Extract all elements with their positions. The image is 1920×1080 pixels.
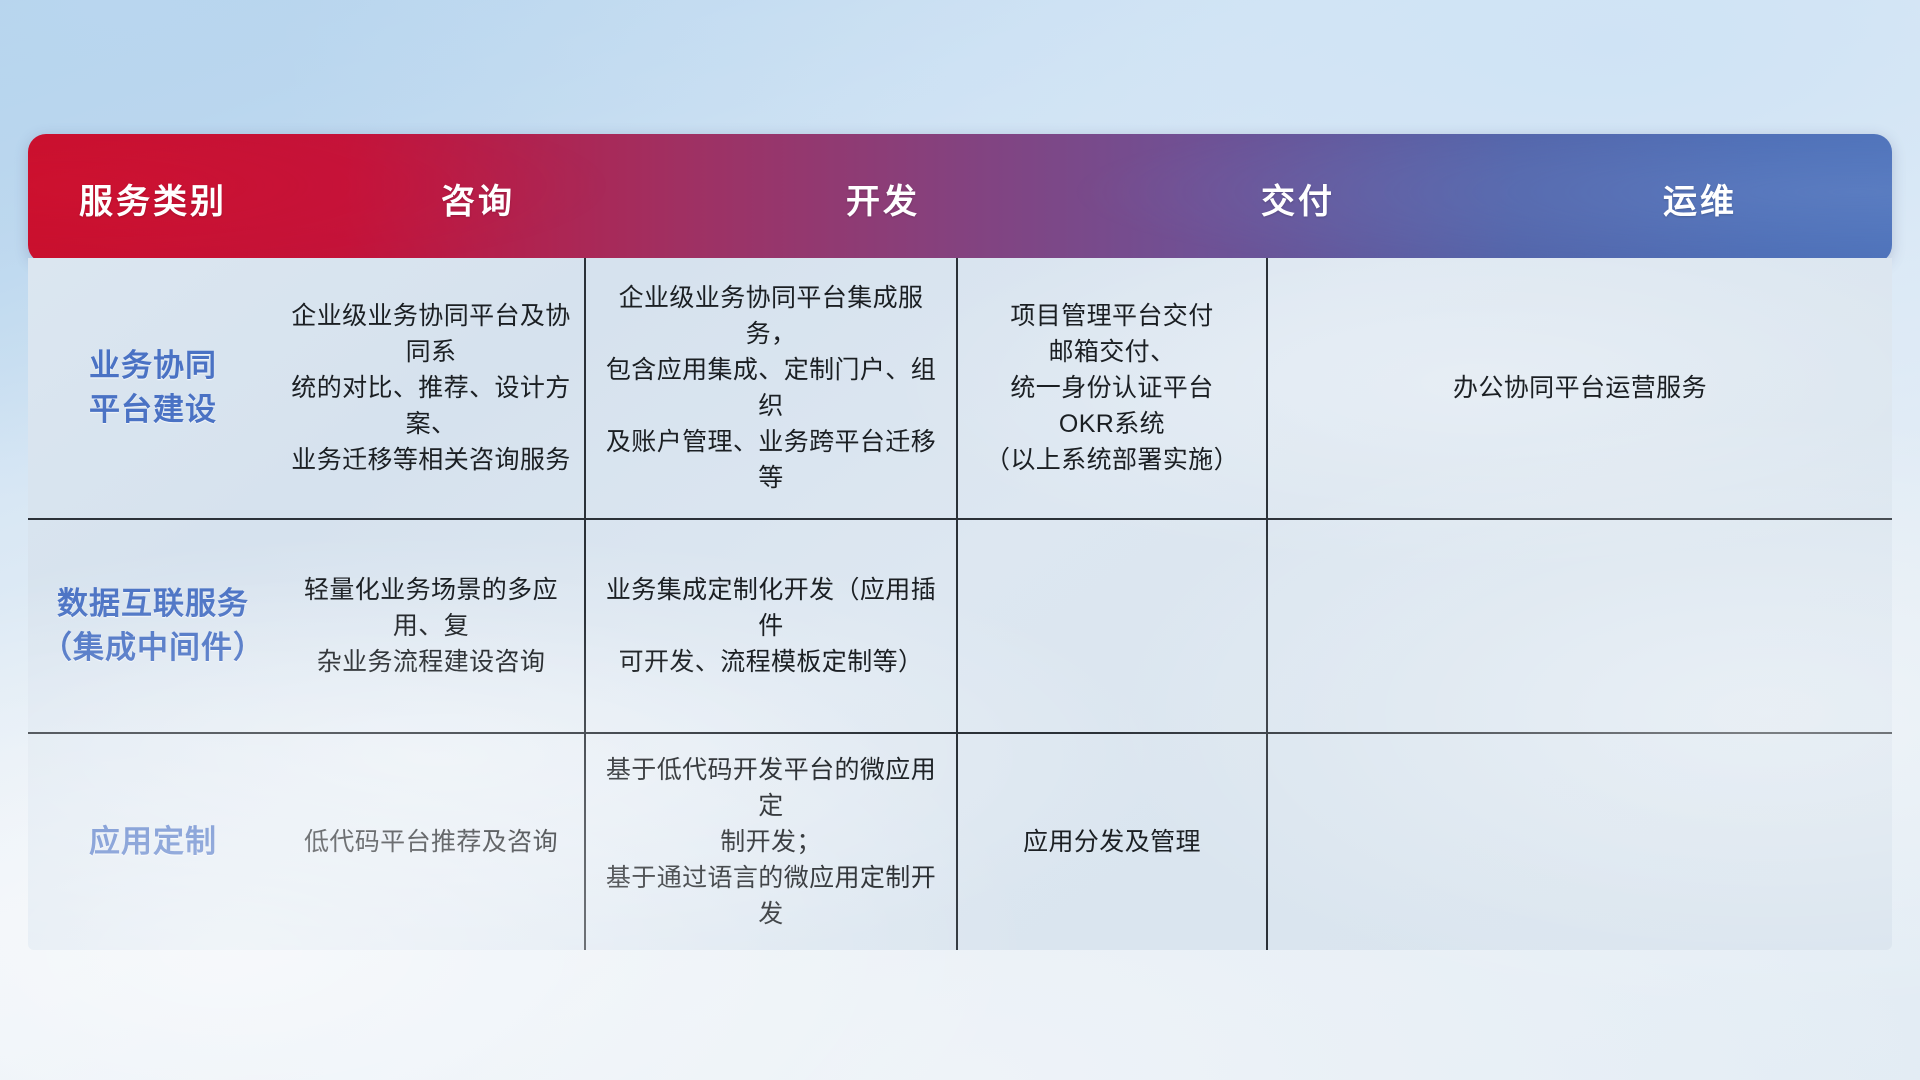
cell-row3-delivery: 应用分发及管理 — [958, 734, 1266, 950]
column-header-operations: 运维 — [1508, 174, 1892, 223]
column-header-category: 服务类别 — [28, 174, 278, 223]
table-row: 数据互联服务 （集成中间件） — [28, 520, 278, 732]
table-row: 业务协同 平台建设 — [28, 258, 278, 518]
cell-row2-consulting: 轻量化业务场景的多应用、复 杂业务流程建设咨询 — [278, 520, 584, 732]
cell-row1-operations: 办公协同平台运营服务 — [1268, 258, 1892, 518]
table-header-row: 服务类别 咨询 开发 交付 运维 — [28, 134, 1892, 263]
cell-row3-consulting: 低代码平台推荐及咨询 — [278, 734, 584, 950]
cell-row2-delivery — [958, 520, 1266, 732]
row-category-label-3: 应用定制 — [89, 820, 217, 864]
table-row: 应用定制 — [28, 734, 278, 950]
row-category-label-1: 业务协同 平台建设 — [89, 344, 217, 432]
slide-canvas: 服务类别 咨询 开发 交付 运维 业务协同 平台建设 企业级业务协同平台及协同系… — [0, 0, 1920, 1080]
cell-row1-delivery: 项目管理平台交付 邮箱交付、 统一身份认证平台 OKR系统 （以上系统部署实施） — [958, 258, 1266, 518]
column-header-development: 开发 — [678, 174, 1088, 223]
row-category-label-2: 数据互联服务 （集成中间件） — [41, 582, 265, 670]
column-header-delivery: 交付 — [1088, 174, 1508, 223]
cell-row2-development: 业务集成定制化开发（应用插件 可开发、流程模板定制等） — [586, 520, 956, 732]
column-header-consulting: 咨询 — [278, 174, 678, 223]
cell-row2-operations — [1268, 520, 1892, 732]
cell-row3-development: 基于低代码开发平台的微应用定 制开发； 基于通过语言的微应用定制开发 — [586, 734, 956, 950]
cell-row1-consulting: 企业级业务协同平台及协同系 统的对比、推荐、设计方案、 业务迁移等相关咨询服务 — [278, 258, 584, 518]
table-body-cells: 业务协同 平台建设 企业级业务协同平台及协同系 统的对比、推荐、设计方案、 业务… — [28, 258, 1892, 950]
cell-row1-development: 企业级业务协同平台集成服务， 包含应用集成、定制门户、组织 及账户管理、业务跨平… — [586, 258, 956, 518]
cell-row3-operations — [1268, 734, 1892, 950]
